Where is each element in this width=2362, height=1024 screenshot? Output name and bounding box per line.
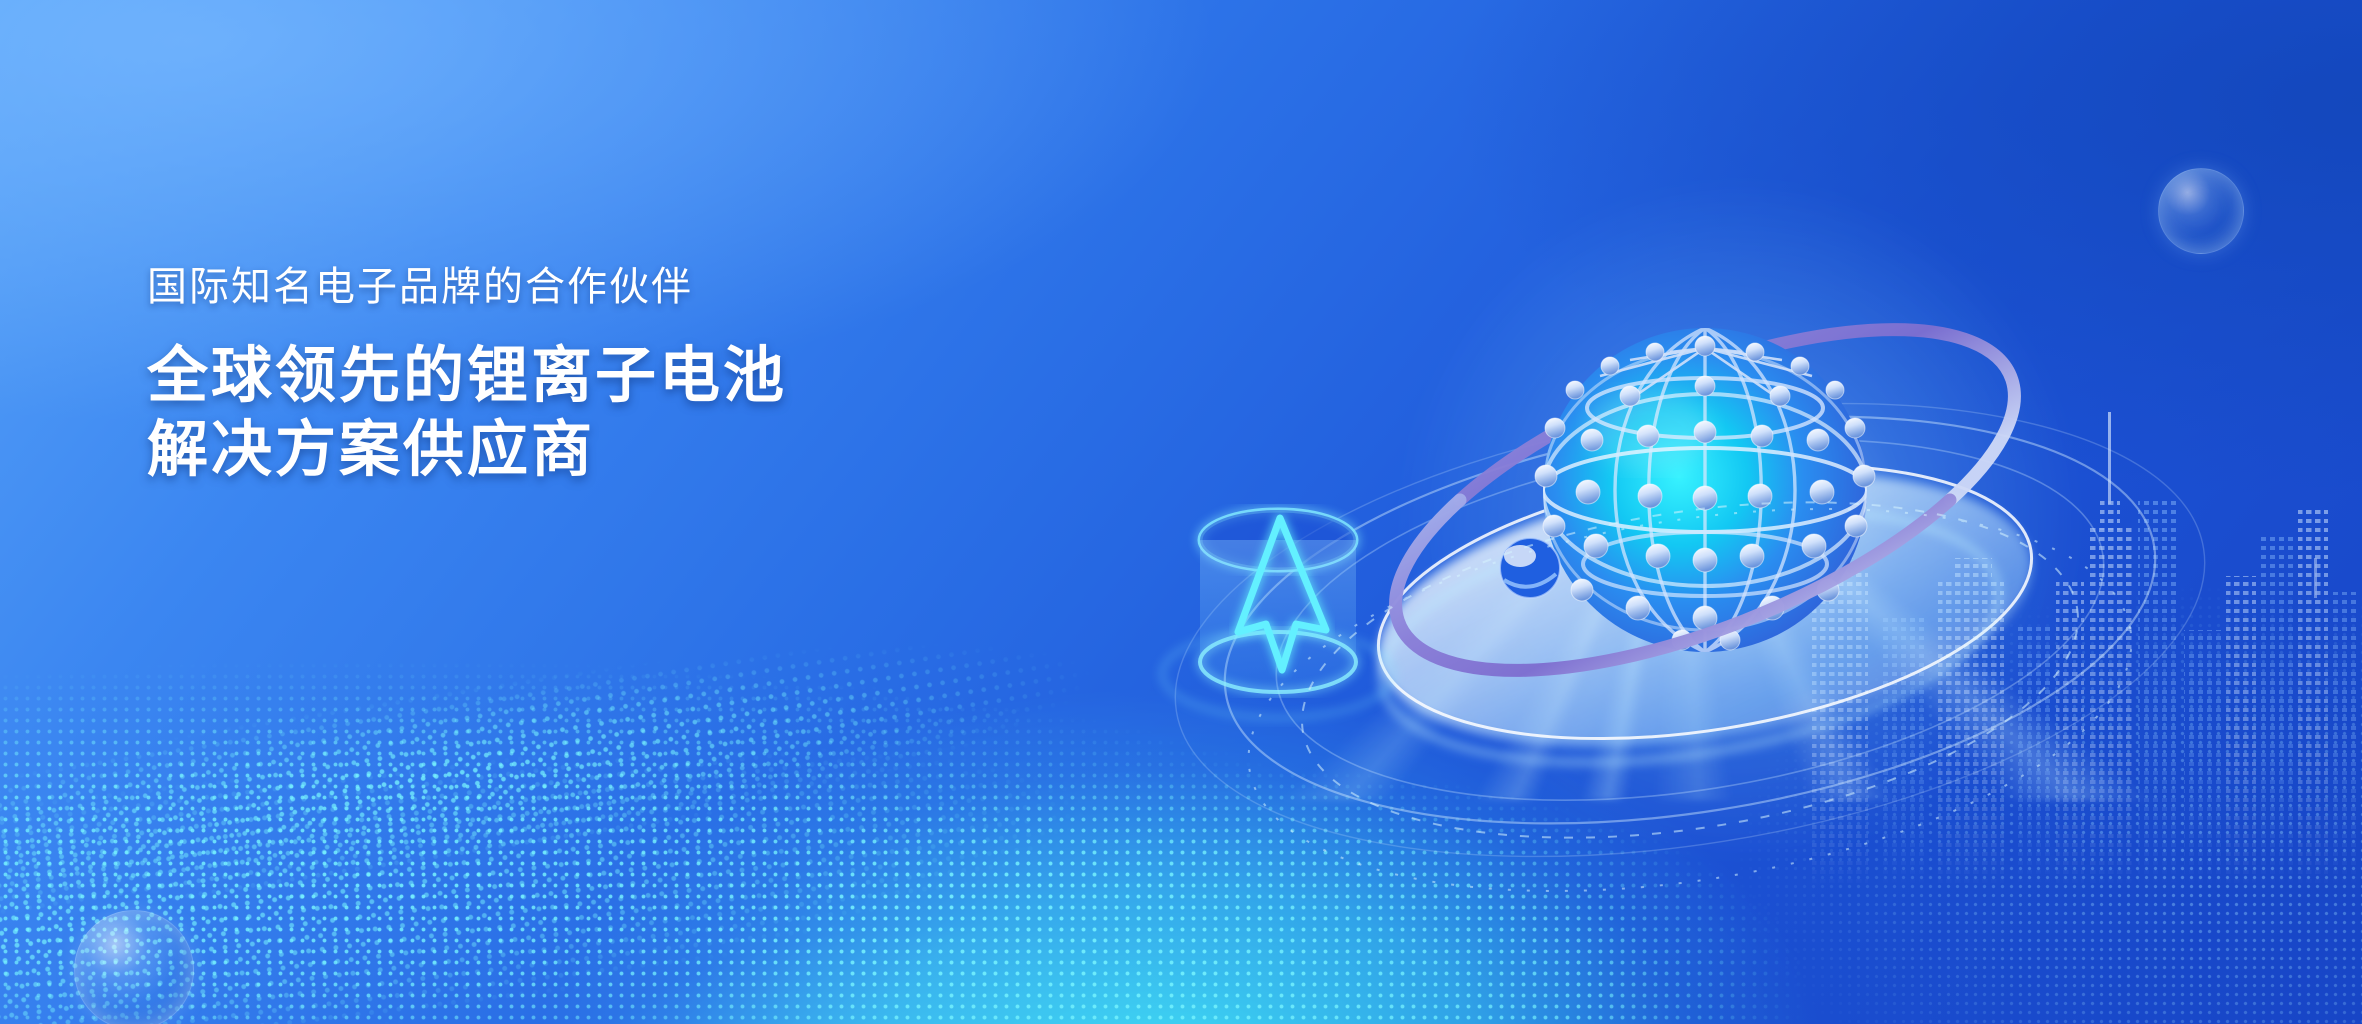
hero-banner: 国际知名电子品牌的合作伙伴 全球领先的锂离子电池 解决方案供应商 (0, 0, 2362, 1024)
banner-headline-line1: 全球领先的锂离子电池 (147, 338, 967, 412)
cursor-pillar-icon (1162, 510, 1394, 718)
banner-headline-line2: 解决方案供应商 (147, 412, 967, 486)
banner-headline: 全球领先的锂离子电池 解决方案供应商 (147, 338, 967, 487)
globe-scene (1130, 200, 2240, 920)
globe-graphic (1130, 200, 2240, 920)
banner-copy: 国际知名电子品牌的合作伙伴 全球领先的锂离子电池 解决方案供应商 (147, 262, 967, 487)
bubble-icon (74, 910, 194, 1024)
orbit-node-icon (1500, 538, 1560, 598)
banner-eyebrow: 国际知名电子品牌的合作伙伴 (147, 262, 967, 312)
